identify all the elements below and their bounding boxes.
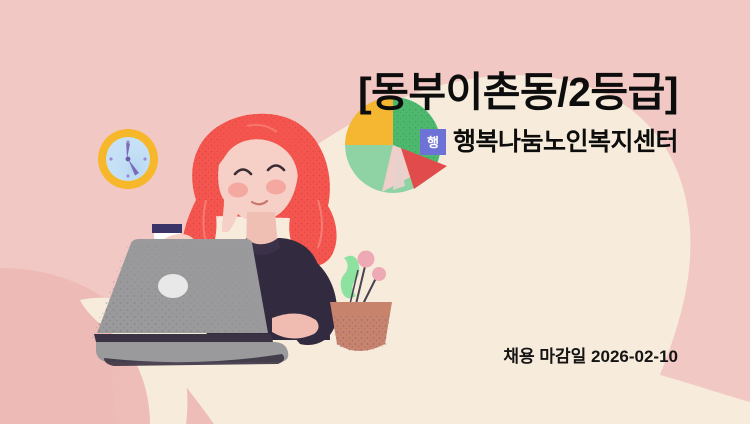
illustration-scene — [0, 0, 750, 424]
cup-lid — [152, 224, 182, 233]
cheek-left — [228, 183, 248, 198]
cheek-right — [266, 180, 286, 195]
flower-head-2 — [372, 267, 386, 281]
flower-head-1 — [358, 251, 375, 268]
clock-tick-9 — [109, 157, 112, 160]
laptop-logo — [158, 274, 188, 298]
laptop-hinge — [94, 334, 273, 342]
wall-clock — [98, 129, 158, 189]
job-posting-poster: [동부이촌동/2등급] 행 행복나눔노인복지센터 채용 마감일 2026-02-… — [0, 0, 750, 424]
clock-tick-3 — [143, 157, 146, 160]
clock-tick-6 — [126, 174, 129, 177]
